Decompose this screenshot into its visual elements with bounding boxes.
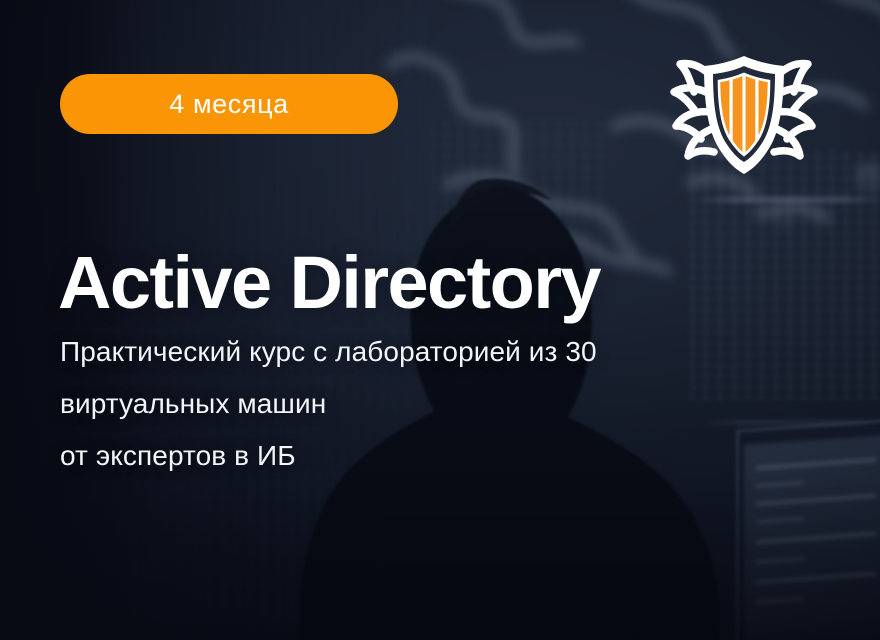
- course-promo-banner: 4 месяца Active Directory Практический к…: [0, 0, 880, 640]
- duration-badge: 4 месяца: [60, 74, 398, 134]
- duration-badge-label: 4 месяца: [169, 91, 289, 118]
- banner-content: 4 месяца Active Directory Практический к…: [0, 0, 880, 640]
- subtitle-line-1: Практический курс с лабораторией из 30: [60, 326, 800, 378]
- spider-shield-logo-icon: [668, 42, 820, 176]
- course-subtitle: Практический курс с лабораторией из 30 в…: [60, 326, 800, 482]
- subtitle-line-2: виртуальных машин: [60, 378, 800, 430]
- subtitle-line-3: от экспертов в ИБ: [60, 430, 800, 482]
- page-title: Active Directory: [58, 246, 600, 320]
